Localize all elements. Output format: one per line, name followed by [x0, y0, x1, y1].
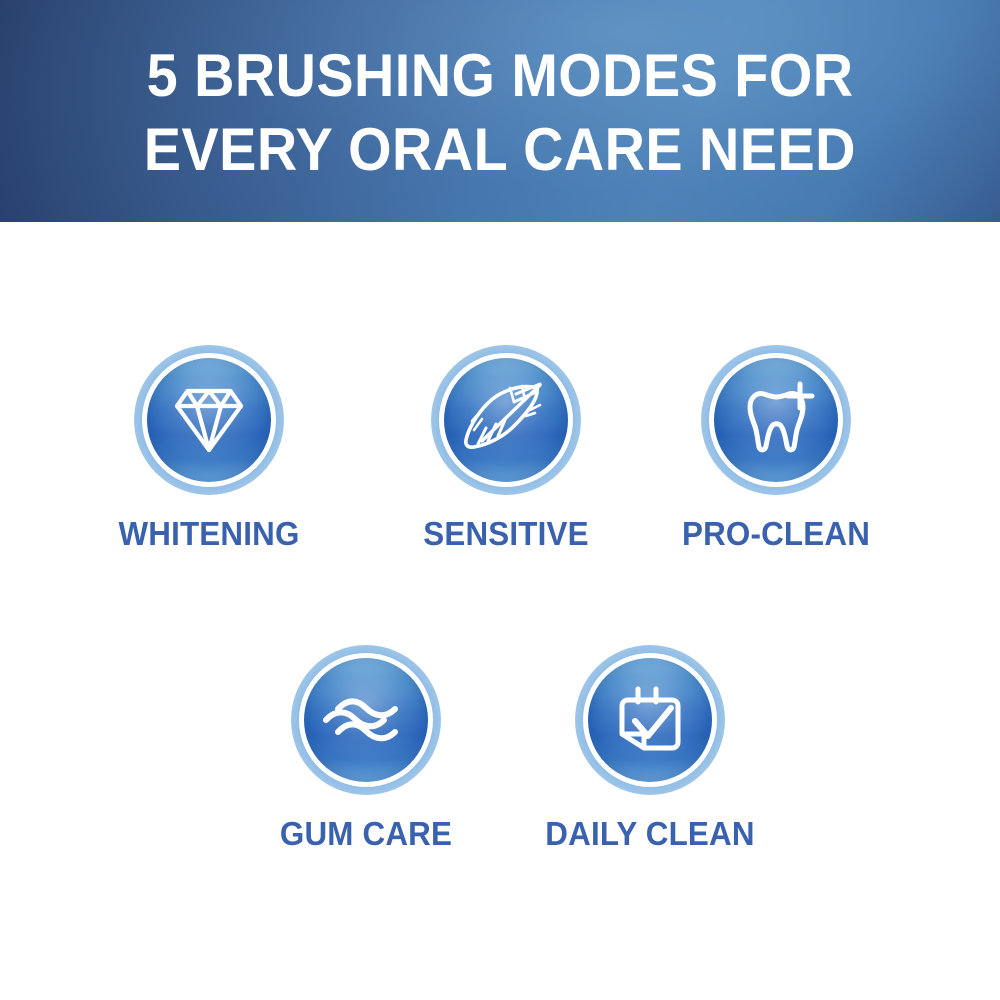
mode-badge-disc: [588, 658, 712, 782]
mode-label-dailyclean: DAILY CLEAN: [536, 815, 764, 853]
headline-line-2: EVERY ORAL CARE NEED: [144, 113, 856, 187]
feather-icon: [444, 358, 568, 482]
mode-badge-disc: [714, 358, 838, 482]
waves-icon: [304, 658, 428, 782]
mode-item-whitening[interactable]: WHITENING: [89, 345, 329, 553]
mode-label-sensitive: SENSITIVE: [392, 515, 620, 553]
mode-badge-sensitive[interactable]: [431, 345, 581, 495]
mode-badge-disc: [304, 658, 428, 782]
mode-item-gumcare[interactable]: GUM CARE: [246, 645, 486, 853]
calendar-check-icon: [588, 658, 712, 782]
mode-badge-disc: [444, 358, 568, 482]
mode-label-proclean: PRO-CLEAN: [662, 515, 890, 553]
mode-badge-disc: [147, 358, 271, 482]
mode-item-sensitive[interactable]: SENSITIVE: [386, 345, 626, 553]
mode-label-whitening: WHITENING: [95, 515, 323, 553]
mode-item-proclean[interactable]: PRO-CLEAN: [656, 345, 896, 553]
brushing-modes-grid: WHITENING: [0, 222, 1000, 1000]
header-banner-text: 5 BRUSHING MODES FOR EVERY ORAL CARE NEE…: [0, 0, 1000, 222]
mode-badge-proclean[interactable]: [701, 345, 851, 495]
tooth-plus-icon: [714, 358, 838, 482]
diamond-icon: [147, 358, 271, 482]
header-banner: 5 BRUSHING MODES FOR EVERY ORAL CARE NEE…: [0, 0, 1000, 222]
mode-badge-whitening[interactable]: [134, 345, 284, 495]
mode-badge-dailyclean[interactable]: [575, 645, 725, 795]
headline-line-1: 5 BRUSHING MODES FOR: [147, 39, 854, 113]
mode-badge-gumcare[interactable]: [291, 645, 441, 795]
mode-label-gumcare: GUM CARE: [252, 815, 480, 853]
mode-item-dailyclean[interactable]: DAILY CLEAN: [530, 645, 770, 853]
